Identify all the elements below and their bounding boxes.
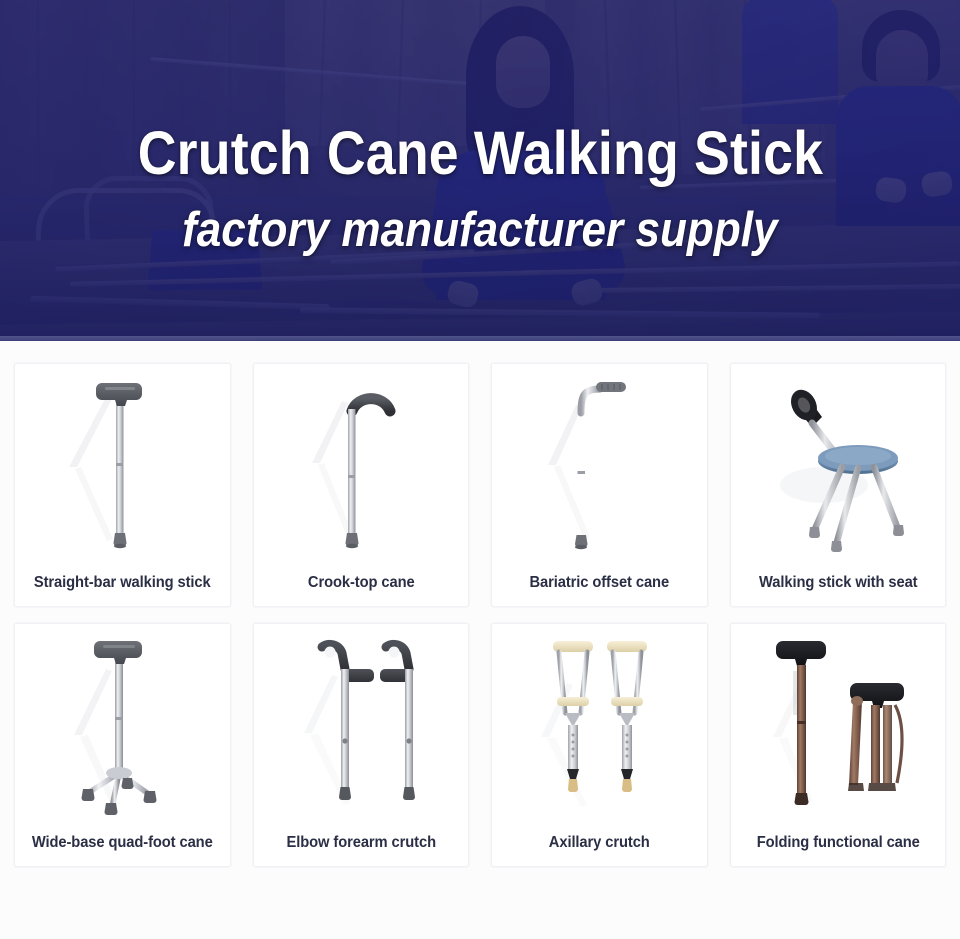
product-card-straight-bar-walking-stick[interactable]: Straight-bar walking stick [14,363,231,607]
product-image-container [731,364,946,560]
banner-subheadline: factory manufacturer supply [182,206,778,255]
product-card-walking-stick-with-seat[interactable]: Walking stick with seat [730,363,947,607]
product-image-container [15,624,230,820]
crook-cane-icon [286,367,436,557]
banner-headline: Crutch Cane Walking Stick [137,122,822,184]
seat-cane-icon [758,365,918,560]
product-label: Elbow forearm crutch [259,820,463,866]
product-image-container [254,624,469,820]
product-image-container [254,364,469,560]
product-label: Axillary crutch [497,820,701,866]
forearm-crutch-icon [278,625,443,820]
product-card-elbow-forearm-crutch[interactable]: Elbow forearm crutch [253,623,470,867]
product-image-container [492,624,707,820]
straight-cane-icon [47,367,197,557]
product-label: Walking stick with seat [736,560,940,606]
product-card-wide-base-quad-foot-cane[interactable]: Wide-base quad-foot cane [14,623,231,867]
product-card-crook-top-cane[interactable]: Crook-top cane [253,363,470,607]
product-label: Folding functional cane [736,820,940,866]
product-card-folding-functional-cane[interactable]: Folding functional cane [730,623,947,867]
folding-cane-icon [753,625,923,820]
product-image-container [492,364,707,560]
product-label: Wide-base quad-foot cane [20,820,224,866]
quad-cane-icon [42,625,202,820]
product-image-container [15,364,230,560]
banner-text-block: Crutch Cane Walking Stick factory manufa… [0,0,960,341]
product-card-axillary-crutch[interactable]: Axillary crutch [491,623,708,867]
offset-cane-icon [524,367,674,557]
product-label: Straight-bar walking stick [20,560,224,606]
product-grid: Straight-bar walking stick [0,341,960,867]
product-image-container [731,624,946,820]
product-label: Crook-top cane [259,560,463,606]
product-label: Bariatric offset cane [497,560,701,606]
axillary-crutch-icon [517,625,682,820]
hero-banner: Crutch Cane Walking Stick factory manufa… [0,0,960,341]
product-showcase-page: Crutch Cane Walking Stick factory manufa… [0,0,960,939]
product-card-bariatric-offset-cane[interactable]: Bariatric offset cane [491,363,708,607]
